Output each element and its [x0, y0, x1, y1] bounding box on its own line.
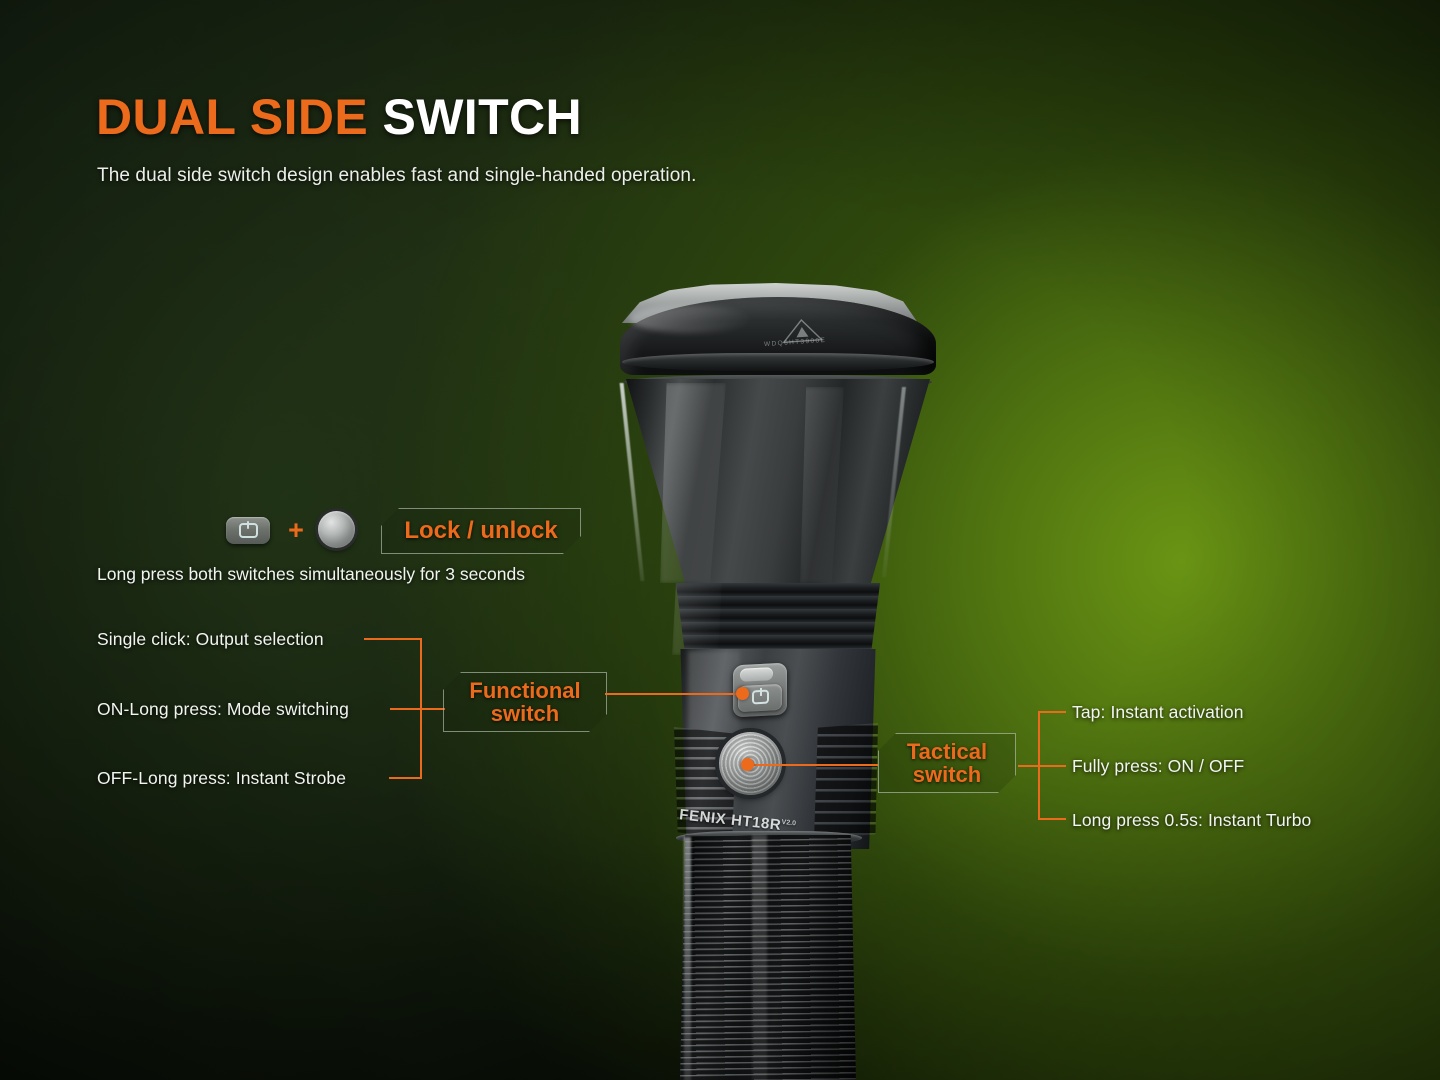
product-switch-indicator: [740, 667, 773, 682]
legend-tactical-switch-icon: [318, 511, 355, 548]
badge-functional-line1: Functional: [469, 678, 580, 703]
lock-instruction-text: Long press both switches simultaneously …: [97, 564, 525, 585]
connector-tact-2: [1038, 818, 1066, 820]
functional-item-2: OFF-Long press: Instant Strobe: [97, 768, 346, 789]
connector-tact-0: [1038, 711, 1066, 713]
badge-lock-unlock: Lock / unlock: [381, 508, 581, 554]
bezel-ring-upper: [622, 353, 934, 371]
tube-center-highlight: [752, 835, 767, 1080]
badge-tactical-switch: Tactical switch: [878, 733, 1016, 793]
leader-func-switch: [605, 693, 747, 695]
connector-func-0: [364, 638, 422, 640]
badge-tactical-line2: switch: [913, 762, 981, 787]
legend-functional-switch-icon: [226, 517, 270, 544]
leader-dot-func-switch: [736, 687, 749, 700]
connector-func-2: [389, 777, 422, 779]
model-version: V2.0: [781, 819, 796, 827]
tactical-item-1: Fully press: ON / OFF: [1072, 756, 1244, 777]
page-subtitle: The dual side switch design enables fast…: [97, 165, 696, 187]
connector-tact-1: [1018, 765, 1066, 767]
head-rings-highlight: [672, 583, 722, 655]
barrel-fins-right: [814, 723, 878, 839]
tactical-item-2: Long press 0.5s: Instant Turbo: [1072, 810, 1311, 831]
power-glyph-icon: [239, 523, 258, 538]
product-infographic: WDQ6HT3900E FENIX HT18RV2.0 DUAL SIDE SW…: [0, 0, 1440, 1080]
plus-icon: +: [285, 517, 307, 543]
flashlight-product-image: WDQ6HT3900E FENIX HT18RV2.0: [600, 283, 1000, 1080]
connector-func-1: [390, 708, 422, 710]
battery-tube: [680, 835, 856, 1080]
connector-func-to-badge: [420, 708, 445, 710]
bezel-highlight: [630, 305, 750, 333]
power-glyph-icon: [752, 690, 769, 705]
badge-functional-line2: switch: [491, 701, 559, 726]
functional-item-1: ON-Long press: Mode switching: [97, 699, 349, 720]
tactical-item-0: Tap: Instant activation: [1072, 702, 1244, 723]
page-title-orange: DUAL SIDE: [96, 89, 368, 145]
tube-edge-highlight: [684, 837, 691, 1080]
badge-tactical-line1: Tactical: [907, 739, 987, 764]
page-title-white: SWITCH: [382, 89, 582, 145]
leader-tact-switch: [747, 764, 878, 766]
page-title: DUAL SIDE SWITCH: [96, 92, 582, 142]
badge-functional-switch: Functional switch: [443, 672, 607, 732]
functional-item-0: Single click: Output selection: [97, 629, 324, 650]
leader-dot-tact-switch: [741, 758, 754, 771]
